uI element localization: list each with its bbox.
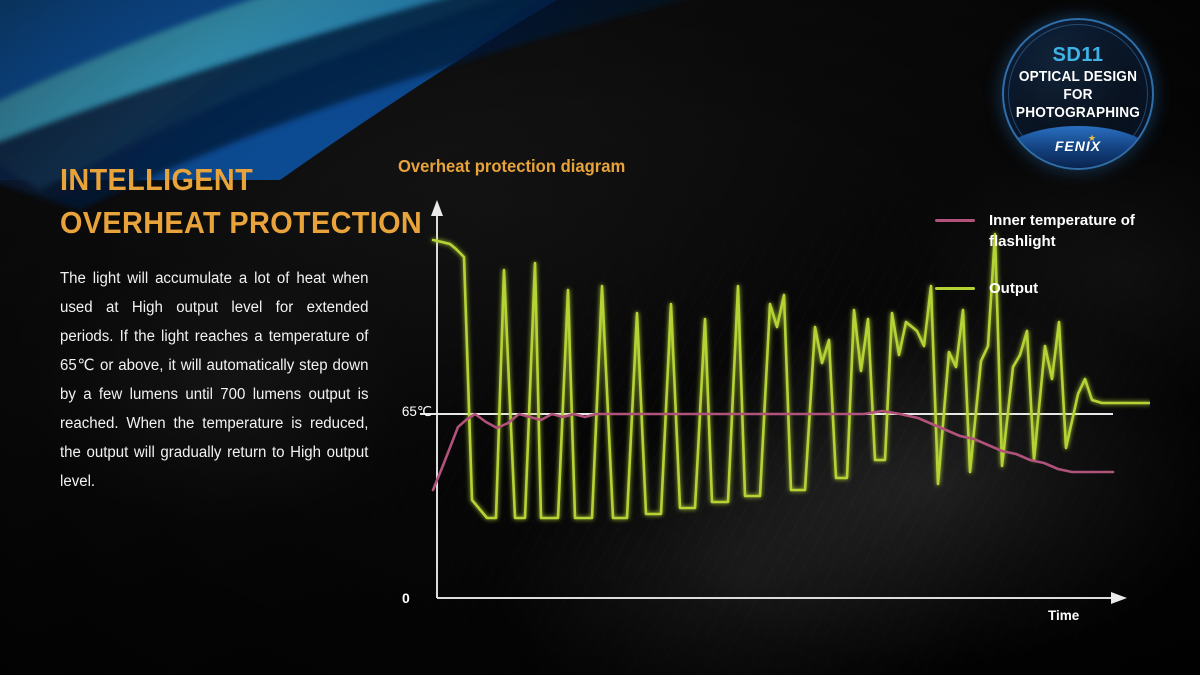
badge-brand-name: FENIX bbox=[1004, 138, 1152, 154]
legend-label-output: Output bbox=[989, 278, 1139, 299]
description-paragraph: The light will accumulate a lot of heat … bbox=[60, 264, 368, 496]
badge-model-name: SD11 bbox=[1004, 44, 1152, 67]
slide-stage: INTELLIGENT OVERHEAT PROTECTION The ligh… bbox=[0, 0, 1200, 675]
legend-swatch-output bbox=[935, 287, 975, 290]
badge-tagline-line-2: FOR bbox=[1008, 87, 1147, 103]
left-text-block: INTELLIGENT OVERHEAT PROTECTION The ligh… bbox=[60, 158, 378, 496]
x-axis-label-time: Time bbox=[1048, 608, 1079, 623]
legend-item-output: Output bbox=[935, 278, 1150, 299]
y-axis-label-65c: 65℃ bbox=[380, 404, 432, 420]
badge-tagline-line-3: PHOTOGRAPHING bbox=[1008, 105, 1147, 121]
headline-line-1: INTELLIGENT bbox=[60, 158, 356, 201]
chart-title: Overheat protection diagram bbox=[398, 156, 625, 177]
series-inner-temperature-line bbox=[433, 411, 1113, 490]
chart-legend: Inner temperature of flashlight Output bbox=[935, 210, 1150, 325]
legend-swatch-inner-temperature bbox=[935, 219, 975, 222]
overheat-protection-chart: Overheat protection diagram bbox=[380, 150, 1150, 640]
headline-line-2: OVERHEAT PROTECTION bbox=[60, 201, 356, 244]
badge-tagline-line-1: OPTICAL DESIGN bbox=[1008, 69, 1147, 85]
origin-label-zero: 0 bbox=[402, 590, 410, 606]
product-badge: SD11 OPTICAL DESIGN FOR PHOTOGRAPHING ★ … bbox=[1002, 18, 1154, 170]
legend-item-inner-temperature: Inner temperature of flashlight bbox=[935, 210, 1150, 252]
legend-label-inner-temperature: Inner temperature of flashlight bbox=[989, 210, 1139, 252]
